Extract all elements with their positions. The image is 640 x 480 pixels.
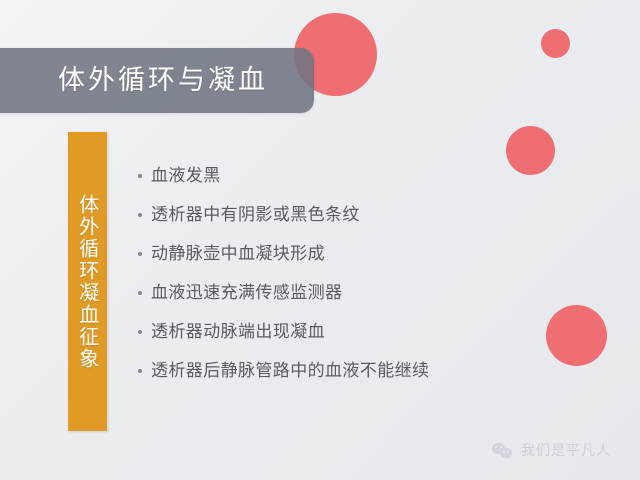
list-item: 血液发黑	[138, 168, 608, 207]
slide-canvas: 体外循环与凝血 体外循环凝血征象 血液发黑 透析器中有阴影或黑色条纹 动静脉壶中…	[0, 0, 640, 480]
list-item: 动静脉壶中血凝块形成	[138, 246, 608, 285]
list-item-label: 血液发黑	[151, 168, 221, 185]
title-banner: 体外循环与凝血	[0, 48, 314, 113]
list-item-label: 透析器后静脉管路中的血液不能继续	[151, 363, 429, 380]
list-item: 透析器中有阴影或黑色条纹	[138, 207, 608, 246]
list-item: 透析器动脉端出现凝血	[138, 324, 608, 363]
bullet-dot-icon	[138, 252, 151, 256]
bullet-dot-icon	[138, 330, 151, 334]
bullet-dot-icon	[138, 291, 151, 295]
page-title: 体外循环与凝血	[58, 67, 268, 94]
list-item-label: 动静脉壶中血凝块形成	[151, 246, 325, 263]
watermark: 我们是平凡人	[492, 442, 611, 460]
decorative-circle-small-top	[541, 29, 570, 58]
bullet-dot-icon	[138, 213, 151, 217]
bullet-dot-icon	[138, 174, 151, 178]
list-item: 血液迅速充满传感监测器	[138, 285, 608, 324]
list-item: 透析器后静脉管路中的血液不能继续	[138, 363, 608, 402]
list-item-label: 血液迅速充满传感监测器	[151, 285, 342, 302]
list-item-label: 透析器动脉端出现凝血	[151, 324, 325, 341]
watermark-label: 我们是平凡人	[521, 444, 611, 458]
list-item-label: 透析器中有阴影或黑色条纹	[151, 207, 360, 224]
side-banner-label: 体外循环凝血征象	[71, 194, 103, 370]
bullet-list: 血液发黑 透析器中有阴影或黑色条纹 动静脉壶中血凝块形成 血液迅速充满传感监测器…	[138, 168, 608, 402]
bullet-dot-icon	[138, 369, 151, 373]
wechat-icon	[492, 442, 514, 460]
vertical-side-banner: 体外循环凝血征象	[68, 132, 107, 431]
